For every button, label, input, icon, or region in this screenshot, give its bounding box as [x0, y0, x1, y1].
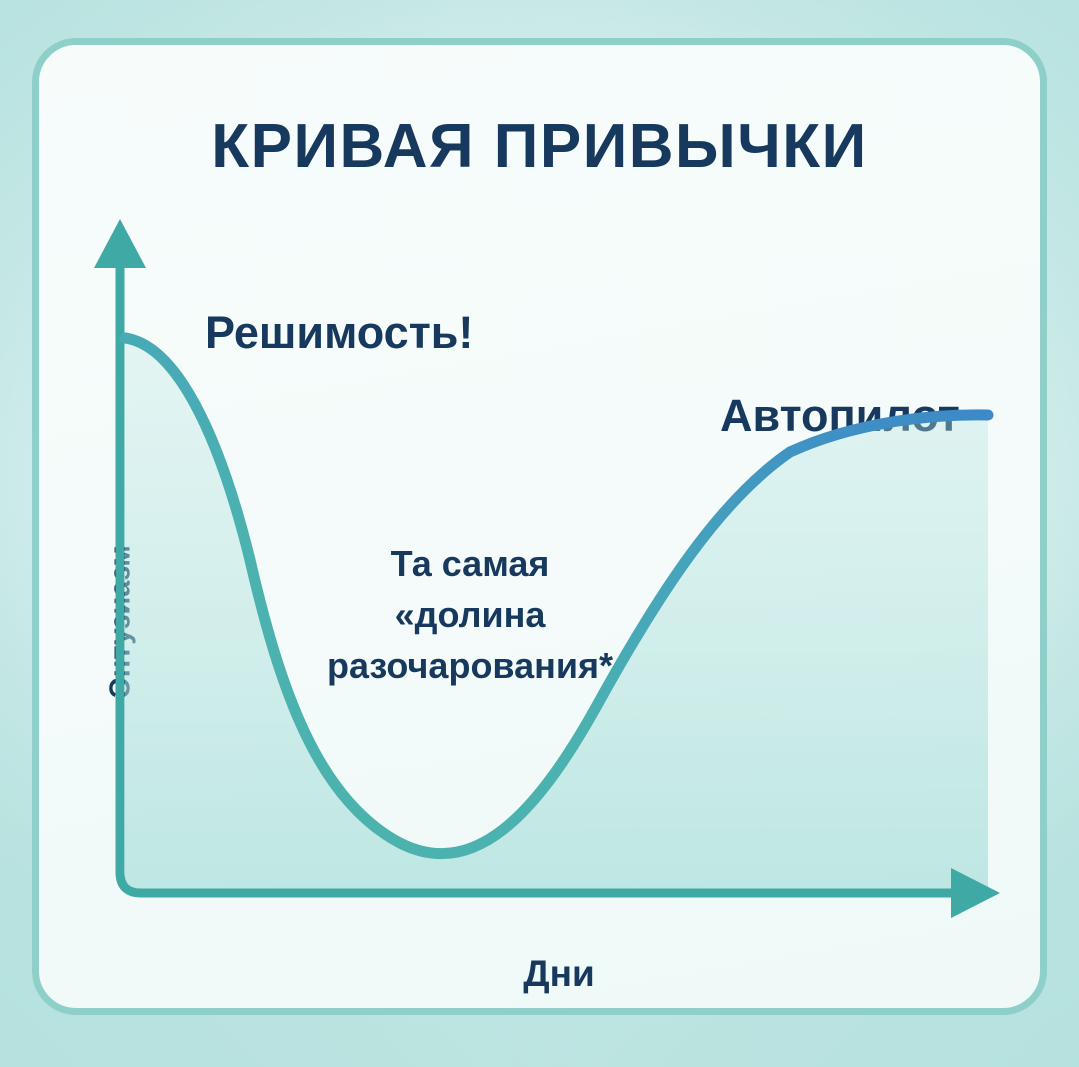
y-axis-label: Энтузиазм — [105, 512, 138, 732]
x-axis-label: Дни — [439, 953, 679, 995]
annotation-autopilot: Автопилот — [720, 390, 960, 442]
annotation-valley: Та самая «долина разочарования* — [285, 538, 655, 691]
infographic-poster: КРИВАЯ ПРИВЫЧКИ Решимость! Автопилот Та … — [0, 0, 1079, 1067]
annotation-valley-line-1: Та самая — [285, 538, 655, 589]
annotation-valley-line-3: разочарования* — [285, 640, 655, 691]
annotation-resolve: Решимость! — [205, 307, 473, 359]
chart-card: КРИВАЯ ПРИВЫЧКИ Решимость! Автопилот Та … — [32, 38, 1047, 1015]
page-title: КРИВАЯ ПРИВЫЧКИ — [39, 111, 1040, 182]
annotation-valley-line-2: «долина — [285, 589, 655, 640]
